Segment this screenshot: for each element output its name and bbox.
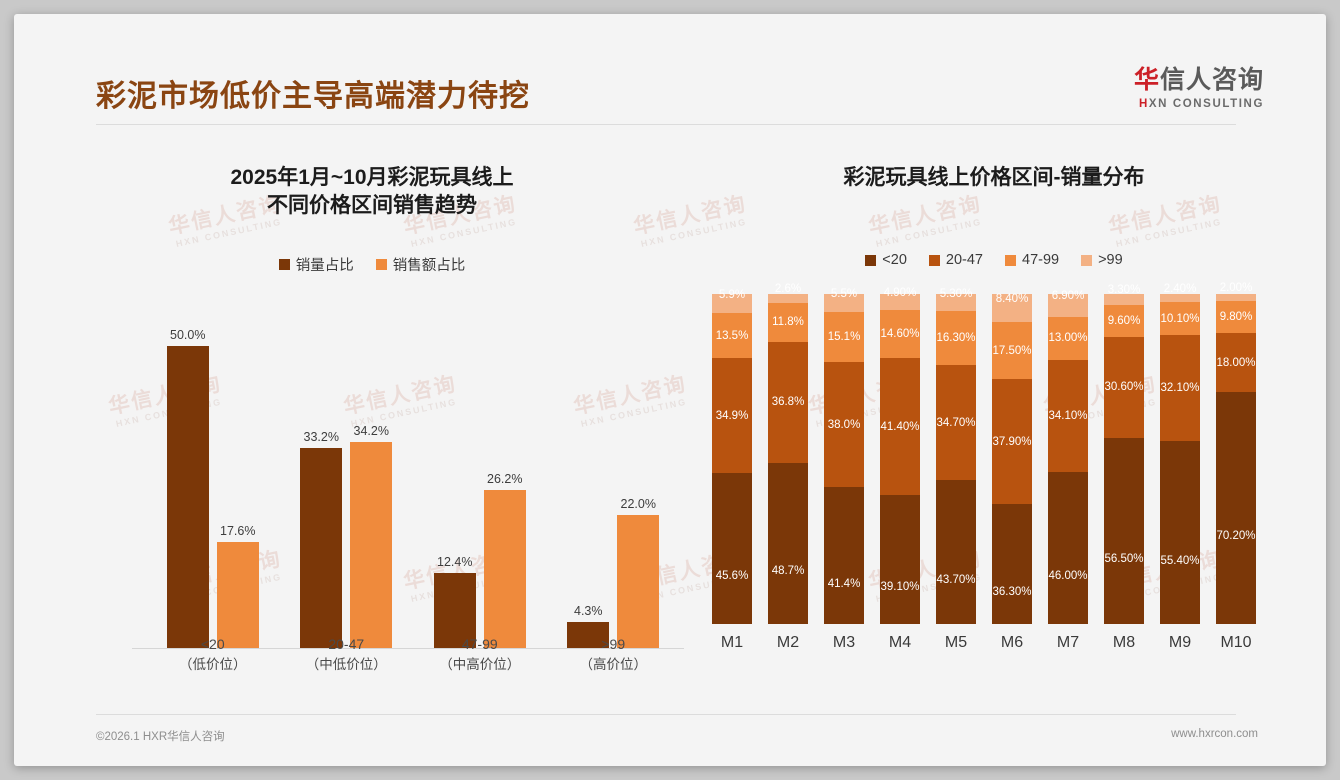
stack-segment->99-M7[interactable]: 6.90% [1048,294,1088,317]
logo-rest-chars: 信人咨询 [1160,66,1264,94]
left-chart-x-labels: <20（低价位）20-47（中低价位）47-99（中高价位）>99（高价位） [146,634,680,675]
segment-value-label: 18.00% [1216,357,1255,369]
segment-value-label: 2.6% [775,283,801,295]
stack-column-M3: 5.5%15.1%38.0%41.4% [816,294,872,624]
segment-value-label: 41.4% [828,578,861,590]
stack-segment-20-47-M8[interactable]: 30.60% [1104,337,1144,438]
stack-column-M10: 2.00%9.80%18.00%70.20% [1208,294,1264,624]
stack-segment-20-47-M2[interactable]: 36.8% [768,342,808,463]
bar-group: 12.4%26.2% [413,316,547,648]
stack-column-M2: 2.6%11.8%36.8%48.7% [760,294,816,624]
segment-value-label: 37.90% [992,436,1031,448]
stack-segment-47-99-M7[interactable]: 13.00% [1048,317,1088,360]
bar-value-label: 17.6% [220,524,255,538]
bar-rect [350,442,392,648]
stack-segment-20-47-M10[interactable]: 18.00% [1216,333,1256,392]
logo-en-accent: H [1139,98,1149,110]
stacked-bar[interactable]: 4.90%14.60%41.40%39.10% [880,294,920,624]
x-tick-main: <20 [201,636,225,652]
stack-segment-<20-M9[interactable]: 55.40% [1160,441,1200,624]
bar-销量占比->99[interactable]: 4.3% [567,316,609,648]
bar-销售额占比-<20[interactable]: 17.6% [217,316,259,648]
stack-segment->99-M4[interactable]: 4.90% [880,294,920,310]
x-tick-M8: M8 [1096,634,1152,652]
segment-value-label: 34.70% [936,417,975,429]
footer-copyright: ©2026.1 HXR华信人咨询 [96,728,225,744]
x-tick-M2: M2 [760,634,816,652]
left-chart-legend: 销量占比销售额占比 [132,254,612,275]
segment-value-label: 8.40% [996,293,1029,305]
stack-segment-<20-M7[interactable]: 46.00% [1048,472,1088,624]
x-tick-sub: （低价位） [146,655,280,675]
stack-column-M7: 6.90%13.00%34.10%46.00% [1040,294,1096,624]
segment-value-label: 41.40% [880,421,919,433]
bar-value-label: 34.2% [354,424,389,438]
segment-value-label: 6.90% [1052,290,1085,302]
stack-segment->99-M5[interactable]: 5.30% [936,294,976,311]
stack-segment->99-M9[interactable]: 2.40% [1160,294,1200,302]
bar-销售额占比-47-99[interactable]: 26.2% [484,316,526,648]
legend-label: >99 [1098,252,1123,268]
legend-swatch-icon [376,259,387,270]
stack-segment-47-99-M9[interactable]: 10.10% [1160,302,1200,335]
stack-segment-20-47-M9[interactable]: 32.10% [1160,335,1200,441]
segment-value-label: 17.50% [992,345,1031,357]
left-title-line1: 2025年1月~10月彩泥玩具线上 [230,166,513,189]
x-tick-M10: M10 [1208,634,1264,652]
footer-website: www.hxrcon.com [1171,728,1258,740]
segment-value-label: 11.8% [772,316,804,328]
x-tick-M5: M5 [928,634,984,652]
x-tick-M4: M4 [872,634,928,652]
segment-value-label: 43.70% [936,574,975,586]
stacked-bar[interactable]: 8.40%17.50%37.90%36.30% [992,294,1032,624]
stack-segment-20-47-M3[interactable]: 38.0% [824,362,864,487]
x-tick-<20: <20（低价位） [146,634,280,675]
bar-rect [167,346,209,648]
right-stacked-bar-chart: 5.9%13.5%34.9%45.6%2.6%11.8%36.8%48.7%5.… [704,294,1264,649]
legend-swatch-icon [929,255,940,266]
stack-segment->99-M6[interactable]: 8.40% [992,294,1032,322]
stacked-bar[interactable]: 5.5%15.1%38.0%41.4% [824,294,864,624]
x-tick-main: 20-47 [328,636,364,652]
right-chart-title: 彩泥玩具线上价格区间-销量分布 [714,164,1274,192]
bar-group: 4.3%22.0% [547,316,681,648]
stack-segment-<20-M8[interactable]: 56.50% [1104,438,1144,624]
stack-segment->99-M3[interactable]: 5.5% [824,294,864,312]
legend-swatch-icon [865,255,876,266]
stack-segment-<20-M3[interactable]: 41.4% [824,487,864,624]
stacked-bar[interactable]: 5.30%16.30%34.70%43.70% [936,294,976,624]
stack-segment->99-M2[interactable]: 2.6% [768,294,808,303]
segment-value-label: 39.10% [880,581,919,593]
segment-value-label: 9.80% [1220,311,1253,323]
legend-label: <20 [882,252,907,268]
x-tick-M7: M7 [1040,634,1096,652]
bar-value-label: 4.3% [574,604,603,618]
stack-segment->99-M1[interactable]: 5.9% [712,294,752,313]
logo-chinese-text: 华信人咨询 [1134,67,1264,95]
left-title-line2: 不同价格区间销售趋势 [267,194,477,217]
x-tick-sub: （中高价位） [413,655,547,675]
header-divider [96,124,1236,125]
segment-value-label: 4.90% [884,287,917,299]
slide: 彩泥市场低价主导高端潜力待挖 华信人咨询 HXN CONSULTING 华信人咨… [14,14,1326,766]
bar-rect [300,448,342,648]
left-chart-title: 2025年1月~10月彩泥玩具线上 不同价格区间销售趋势 [132,164,612,221]
stack-segment-20-47-M4[interactable]: 41.40% [880,358,920,495]
stack-column-M4: 4.90%14.60%41.40%39.10% [872,294,928,624]
left-chart-bar-groups: 50.0%17.6%33.2%34.2%12.4%26.2%4.3%22.0% [146,316,680,648]
segment-value-label: 14.60% [880,328,919,340]
watermark: 华信人咨询HXN CONSULTING [1107,192,1227,250]
segment-value-label: 30.60% [1104,381,1143,393]
x-tick-sub: （高价位） [547,655,681,675]
stack-segment-47-99-M10[interactable]: 9.80% [1216,301,1256,333]
bar-销售额占比->99[interactable]: 22.0% [617,316,659,648]
bar-销量占比-47-99[interactable]: 12.4% [434,316,476,648]
stack-segment-<20-M6[interactable]: 36.30% [992,504,1032,624]
stack-column-M5: 5.30%16.30%34.70%43.70% [928,294,984,624]
segment-value-label: 45.6% [716,570,749,582]
stack-segment-47-99-M1[interactable]: 13.5% [712,313,752,358]
stack-column-M1: 5.9%13.5%34.9%45.6% [704,294,760,624]
stack-segment-20-47-M1[interactable]: 34.9% [712,358,752,473]
segment-value-label: 34.9% [716,410,749,422]
stack-segment->99-M10[interactable]: 2.00% [1216,294,1256,301]
page-title: 彩泥市场低价主导高端潜力待挖 [96,71,530,115]
bar-rect [617,515,659,648]
segment-value-label: 9.60% [1108,315,1141,327]
stack-column-M9: 2.40%10.10%32.10%55.40% [1152,294,1208,624]
bar-rect [217,542,259,648]
left-grouped-bar-chart: 50.0%17.6%33.2%34.2%12.4%26.2%4.3%22.0% … [132,294,692,649]
right-legend-item-1[interactable]: 20-47 [929,252,983,268]
legend-label: 47-99 [1022,252,1059,268]
bar-销售额占比-20-47[interactable]: 34.2% [350,316,392,648]
logo-en-rest: XN CONSULTING [1149,98,1264,110]
company-logo: 华信人咨询 HXN CONSULTING [1134,67,1264,110]
bar-group: 50.0%17.6% [146,316,280,648]
segment-value-label: 55.40% [1160,555,1199,567]
segment-value-label: 5.5% [831,288,857,300]
bar-销量占比-<20[interactable]: 50.0% [167,316,209,648]
x-tick-main: >99 [601,636,625,652]
legend-label: 销售额占比 [393,254,466,275]
x-tick-47-99: 47-99（中高价位） [413,634,547,675]
segment-value-label: 13.5% [716,330,749,342]
stack-column-M6: 8.40%17.50%37.90%36.30% [984,294,1040,624]
stack-segment-47-99-M6[interactable]: 17.50% [992,322,1032,380]
segment-value-label: 36.8% [772,396,805,408]
stack-segment-20-47-M7[interactable]: 34.10% [1048,360,1088,473]
legend-label: 20-47 [946,252,983,268]
stack-segment-<20-M5[interactable]: 43.70% [936,480,976,624]
bar-value-label: 22.0% [621,497,656,511]
watermark: 华信人咨询HXN CONSULTING [867,192,987,250]
stack-segment-20-47-M5[interactable]: 34.70% [936,365,976,480]
x-tick-20-47: 20-47（中低价位） [280,634,414,675]
segment-value-label: 34.10% [1048,410,1087,422]
left-legend-item-0[interactable]: 销量占比 [279,254,354,275]
bar-value-label: 33.2% [304,430,339,444]
bar-value-label: 50.0% [170,328,205,342]
segment-value-label: 5.9% [719,289,745,301]
stack-segment-47-99-M2[interactable]: 11.8% [768,303,808,342]
x-tick-M3: M3 [816,634,872,652]
bar-销量占比-20-47[interactable]: 33.2% [300,316,342,648]
segment-value-label: 70.20% [1216,530,1255,542]
stack-segment-<20-M4[interactable]: 39.10% [880,495,920,624]
stack-segment-47-99-M4[interactable]: 14.60% [880,310,920,358]
x-tick-main: 47-99 [462,636,498,652]
left-legend-item-1[interactable]: 销售额占比 [376,254,466,275]
stack-segment-<20-M2[interactable]: 48.7% [768,463,808,624]
right-chart-stacks: 5.9%13.5%34.9%45.6%2.6%11.8%36.8%48.7%5.… [704,294,1264,624]
logo-accent-char: 华 [1134,66,1160,94]
legend-label: 销量占比 [296,254,354,275]
segment-value-label: 16.30% [936,332,975,344]
stack-segment-<20-M10[interactable]: 70.20% [1216,392,1256,624]
stack-segment->99-M8[interactable]: 3.30% [1104,294,1144,305]
segment-value-label: 56.50% [1104,553,1143,565]
segment-value-label: 2.00% [1220,282,1253,294]
slide-header: 彩泥市场低价主导高端潜力待挖 华信人咨询 HXN CONSULTING [14,14,1326,124]
bar-rect [484,490,526,648]
segment-value-label: 32.10% [1160,382,1199,394]
stack-segment-20-47-M6[interactable]: 37.90% [992,379,1032,504]
x-tick-M9: M9 [1152,634,1208,652]
watermark: 华信人咨询HXN CONSULTING [632,192,752,250]
segment-value-label: 48.7% [772,565,805,577]
stacked-bar[interactable]: 2.40%10.10%32.10%55.40% [1160,294,1200,624]
x-tick-M1: M1 [704,634,760,652]
bar-value-label: 12.4% [437,555,472,569]
segment-value-label: 5.30% [940,288,973,300]
segment-value-label: 46.00% [1048,570,1087,582]
right-legend-item-3[interactable]: >99 [1081,252,1123,268]
stack-segment-<20-M1[interactable]: 45.6% [712,473,752,623]
legend-swatch-icon [279,259,290,270]
stacked-bar[interactable]: 2.00%9.80%18.00%70.20% [1216,294,1256,624]
segment-value-label: 2.40% [1164,283,1197,295]
segment-value-label: 10.10% [1160,313,1199,325]
right-legend-item-0[interactable]: <20 [865,252,907,268]
legend-swatch-icon [1005,255,1016,266]
bar-value-label: 26.2% [487,472,522,486]
segment-value-label: 13.00% [1048,332,1087,344]
stack-segment-47-99-M3[interactable]: 15.1% [824,312,864,362]
right-chart-x-labels: M1M2M3M4M5M6M7M8M9M10 [704,634,1264,652]
segment-value-label: 38.0% [828,419,861,431]
x-tick-sub: （中低价位） [280,655,414,675]
bar-group: 33.2%34.2% [280,316,414,648]
legend-swatch-icon [1081,255,1092,266]
x-tick-M6: M6 [984,634,1040,652]
right-chart-legend: <2020-4747-99>99 [714,252,1274,268]
segment-value-label: 15.1% [828,331,861,343]
stack-segment-47-99-M5[interactable]: 16.30% [936,311,976,365]
right-legend-item-2[interactable]: 47-99 [1005,252,1059,268]
stack-column-M8: 3.30%9.60%30.60%56.50% [1096,294,1152,624]
segment-value-label: 3.30% [1108,284,1141,296]
stacked-bar[interactable]: 3.30%9.60%30.60%56.50% [1104,294,1144,624]
stacked-bar[interactable]: 2.6%11.8%36.8%48.7% [768,294,808,624]
stacked-bar[interactable]: 6.90%13.00%34.10%46.00% [1048,294,1088,624]
footer-divider [96,714,1236,715]
stack-segment-47-99-M8[interactable]: 9.60% [1104,305,1144,337]
x-tick->99: >99（高价位） [547,634,681,675]
logo-english-text: HXN CONSULTING [1134,98,1264,110]
segment-value-label: 36.30% [992,586,1031,598]
stacked-bar[interactable]: 5.9%13.5%34.9%45.6% [712,294,752,624]
